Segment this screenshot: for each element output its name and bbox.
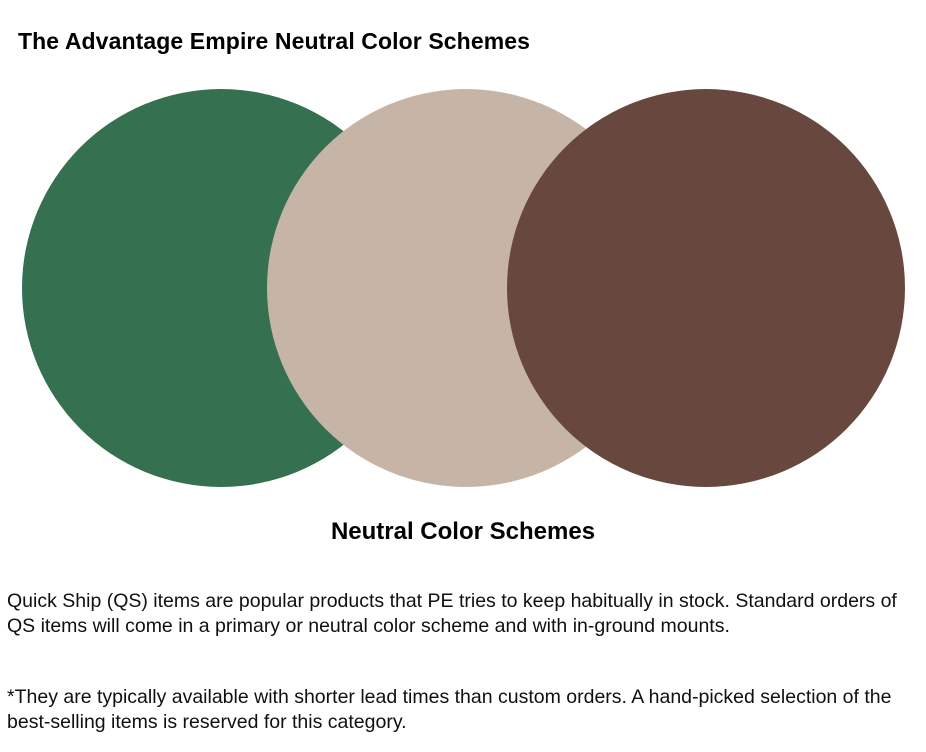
paragraph-quick-ship: Quick Ship (QS) items are popular produc… (7, 589, 907, 639)
color-swatch-group (0, 86, 926, 496)
swatch-caption: Neutral Color Schemes (0, 518, 926, 546)
slide-canvas: The Advantage Empire Neutral Color Schem… (0, 0, 926, 752)
paragraph-lead-times-note: *They are typically available with short… (7, 685, 907, 735)
page-title: The Advantage Empire Neutral Color Schem… (18, 28, 530, 55)
color-swatch-brown (507, 89, 905, 487)
